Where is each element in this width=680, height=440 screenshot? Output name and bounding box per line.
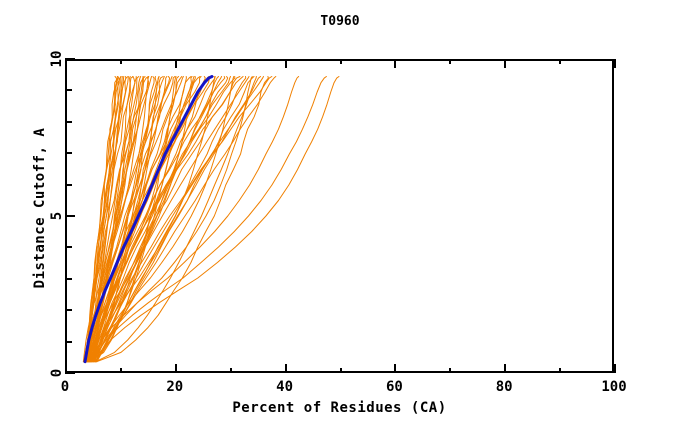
x-axis-major-tick [504,364,506,373]
x-axis-minor-tick [230,59,232,64]
page-title: T0960 [0,14,680,29]
y-axis-minor-tick [65,341,72,343]
x-axis-minor-tick [449,59,451,64]
x-axis-minor-tick [120,59,122,64]
x-axis-tick-label: 40 [276,379,293,395]
x-axis-major-tick-top [175,59,177,68]
x-axis-minor-tick [559,368,561,373]
x-axis-minor-tick [230,368,232,373]
y-axis-minor-tick [65,246,72,248]
x-axis-tick-label: 20 [166,379,183,395]
x-axis-major-tick-top [394,59,396,68]
y-axis-tick-label: 0 [49,362,65,384]
x-axis-minor-tick [559,59,561,64]
x-axis-major-tick [614,364,616,373]
x-axis-minor-tick [449,368,451,373]
x-axis-major-tick [285,364,287,373]
y-axis-minor-tick [65,152,72,154]
x-axis-minor-tick [340,59,342,64]
x-axis-tick-label: 100 [601,379,626,395]
x-axis-major-tick [394,364,396,373]
y-axis-label: Distance Cutoff, A [32,48,48,368]
plot-canvas [67,61,612,371]
x-axis-label: Percent of Residues (CA) [65,400,614,416]
x-axis-major-tick-top [65,59,67,68]
y-axis-major-tick [65,58,75,60]
x-axis-minor-tick [120,368,122,373]
x-axis-major-tick-top [614,59,616,68]
y-axis-tick-label: 5 [49,205,65,227]
y-axis-major-tick [65,372,75,374]
y-axis-major-tick [65,215,75,217]
x-axis-major-tick [175,364,177,373]
y-axis-minor-tick [65,309,72,311]
x-axis-tick-label: 80 [496,379,513,395]
plot-area [65,59,614,373]
x-axis-tick-label: 60 [386,379,403,395]
x-axis-major-tick-top [504,59,506,68]
chart-screenshot: T0960 020406080100 0510 Percent of Resid… [0,0,680,440]
x-axis-major-tick-top [285,59,287,68]
y-axis-minor-tick [65,121,72,123]
y-axis-minor-tick [65,184,72,186]
x-axis-minor-tick [340,368,342,373]
y-axis-minor-tick [65,278,72,280]
y-axis-minor-tick [65,89,72,91]
y-axis-tick-label: 10 [49,48,65,70]
